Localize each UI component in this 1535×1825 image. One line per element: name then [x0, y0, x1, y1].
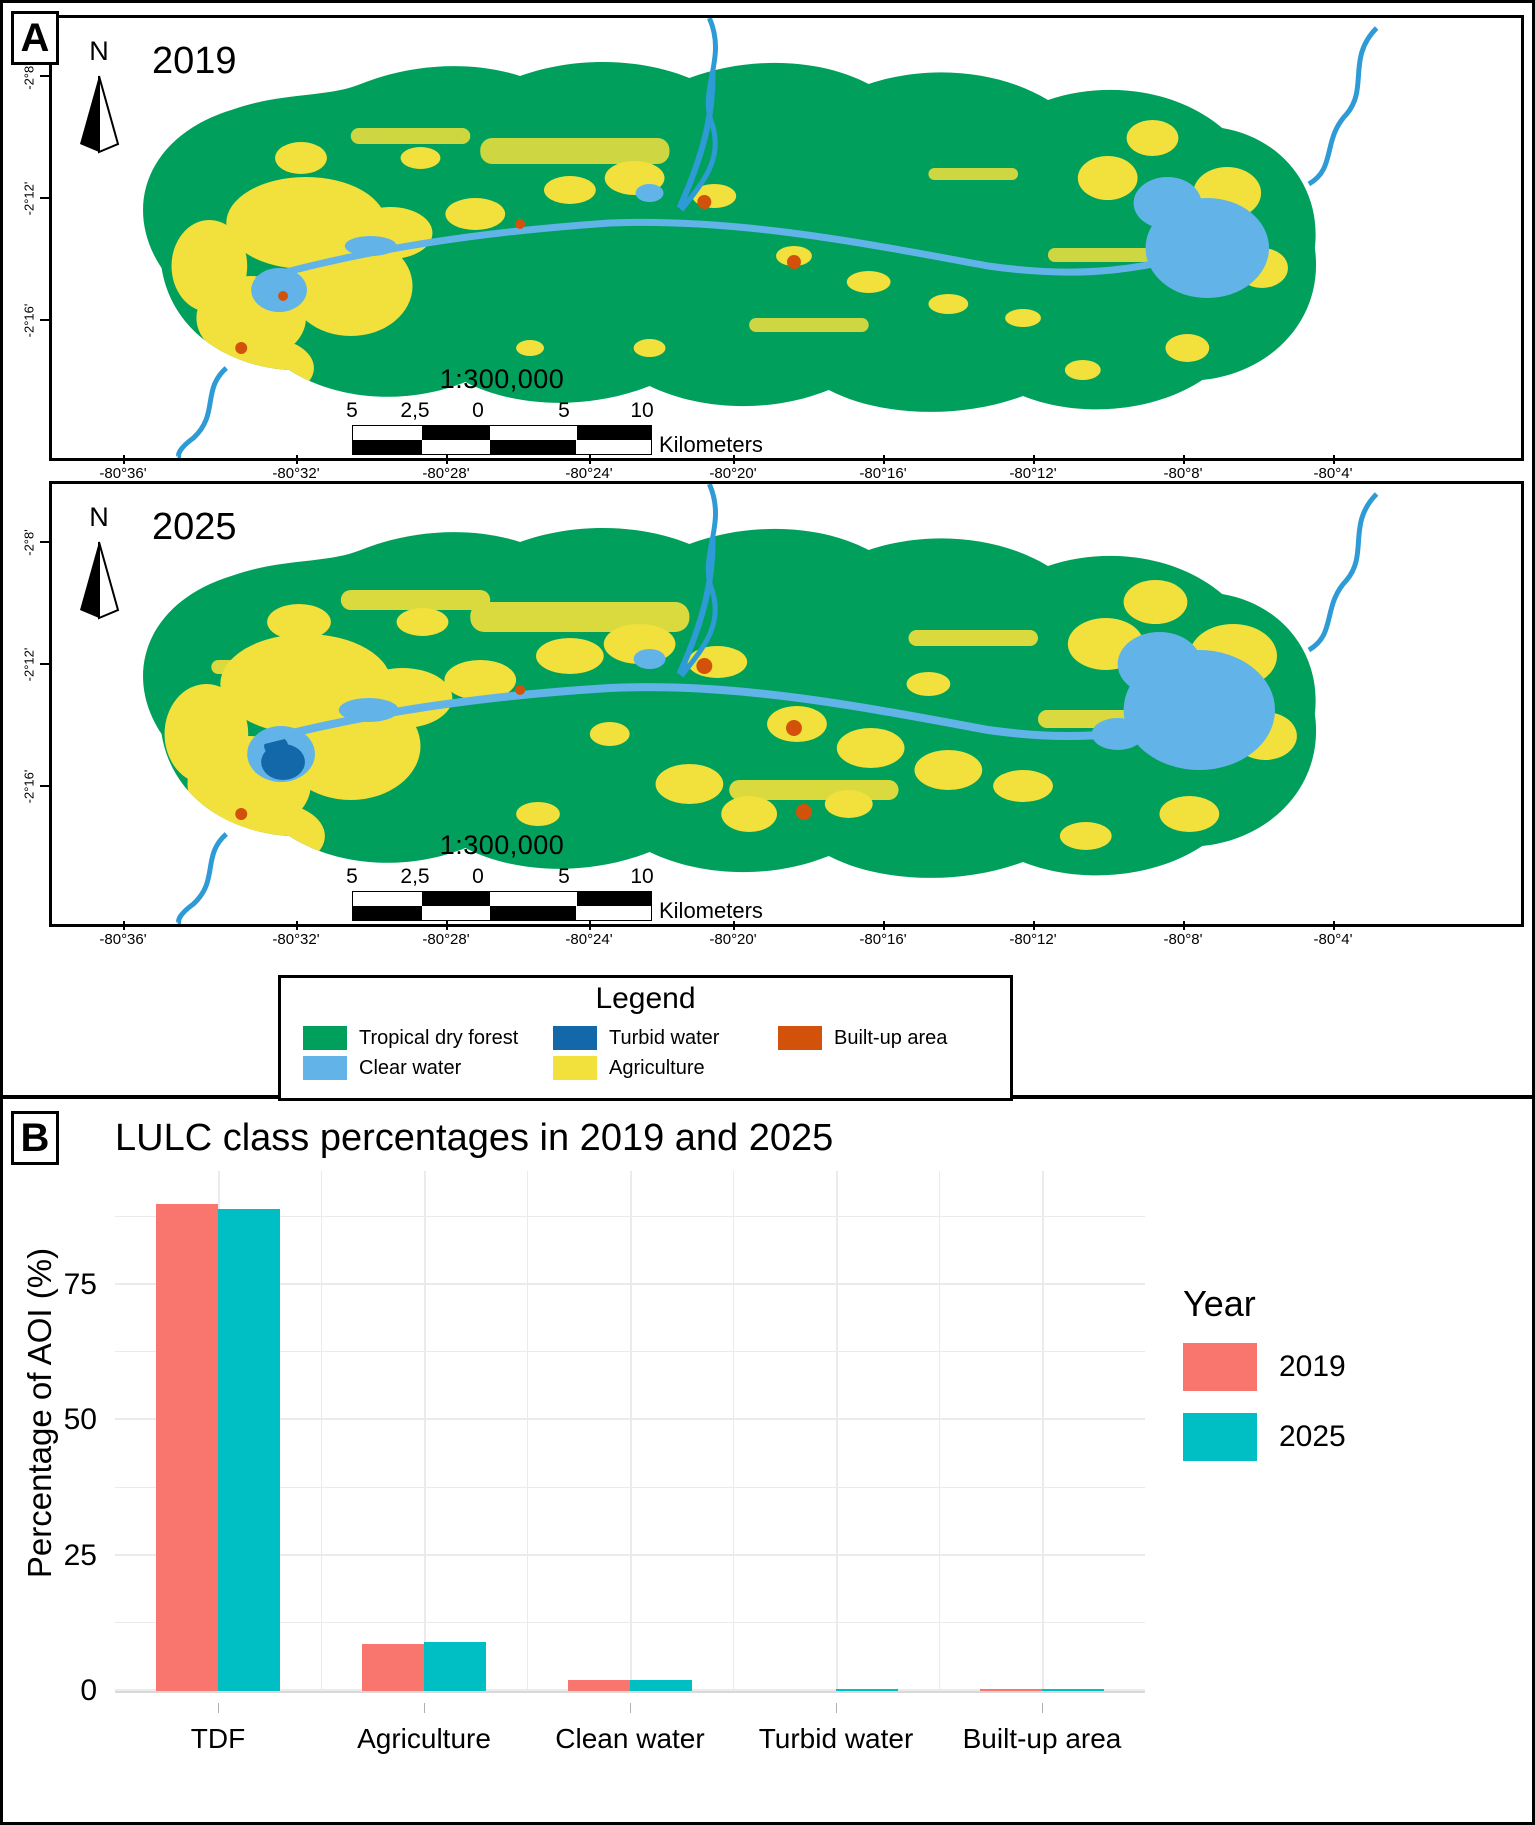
chart-legend-item-2019[interactable]: 2019	[1183, 1343, 1483, 1391]
scale-title-2019: 1:300,000	[342, 364, 662, 395]
chart-x-tickmark-0	[218, 1703, 219, 1713]
legend-item-built-up-area: Built-up area	[778, 1026, 947, 1050]
chart-x-label-tdf: TDF	[191, 1723, 245, 1755]
legend-label-built-up-area: Built-up area	[834, 1027, 947, 1050]
lon-label-2019-2: -80°28'	[422, 465, 469, 482]
lon-label-2025-5: -80°16'	[859, 931, 906, 948]
scale-num-2025-0: 5	[346, 865, 358, 889]
scale-units-2019: Kilometers	[659, 432, 763, 458]
legend-item-clear-water: Clear water	[303, 1056, 553, 1080]
chart-x-tickmark-2	[630, 1703, 631, 1713]
lon-label-2019-7: -80°8'	[1164, 465, 1203, 482]
legend-label-tropical-dry-forest: Tropical dry forest	[359, 1027, 518, 1050]
legend-label-agriculture: Agriculture	[609, 1057, 705, 1080]
chart-x-tickmark-1	[424, 1703, 425, 1713]
lon-label-2019-3: -80°24'	[565, 465, 612, 482]
chart-gridline-x-minor	[527, 1171, 528, 1691]
lon-label-2025-4: -80°20'	[709, 931, 756, 948]
legend-label-turbid-water: Turbid water	[609, 1027, 719, 1050]
map-legend-title: Legend	[281, 982, 1010, 1016]
lon-label-2019-8: -80°4'	[1314, 465, 1353, 482]
chart-x-tickmark-3	[836, 1703, 837, 1713]
chart-legend-item-2025[interactable]: 2025	[1183, 1413, 1483, 1461]
lat-label-2025-2: -2°16'	[22, 757, 37, 817]
chart-legend-swatch-2019	[1183, 1343, 1257, 1391]
map-hydrology-2019	[52, 18, 1521, 458]
map-year-label-2025: 2025	[152, 506, 237, 549]
lat-tick-2019-2	[40, 319, 49, 321]
chart-gridline-x-1	[424, 1171, 426, 1691]
chart-title: LULC class percentages in 2019 and 2025	[115, 1117, 833, 1160]
chart-x-label-clean-water: Clean water	[555, 1723, 704, 1755]
chart-bar-clean-water-2019[interactable]	[568, 1680, 630, 1691]
map-2025: -2°8' -2°12' -2°16'	[3, 481, 1532, 947]
legend-label-clear-water: Clear water	[359, 1057, 461, 1080]
legend-swatch-tropical-dry-forest	[303, 1026, 347, 1050]
chart-gridline-x-minor	[321, 1171, 322, 1691]
map-frame-2025: N 2025 1:300,000 5 2,5 0 5 10	[49, 481, 1524, 927]
chart-gridline-x-3	[836, 1171, 838, 1691]
chart-y-axis-label-text: Percentage of AOI (%)	[21, 1248, 59, 1578]
north-arrow-icon-2019	[76, 74, 122, 154]
lat-tick-2025-1	[40, 663, 49, 665]
chart-legend-label-2019: 2019	[1279, 1350, 1346, 1384]
chart-bar-tdf-2025[interactable]	[218, 1209, 280, 1691]
legend-swatch-built-up-area	[778, 1026, 822, 1050]
scale-num-2025-1: 2,5	[400, 865, 429, 889]
chart-bar-agriculture-2019[interactable]	[362, 1644, 424, 1691]
map-year-label-2019: 2019	[152, 40, 237, 83]
chart-gridline-x-minor	[733, 1171, 734, 1691]
scale-bar-graphic-2025: Kilometers	[352, 891, 652, 921]
legend-swatch-turbid-water	[553, 1026, 597, 1050]
chart-bar-clean-water-2025[interactable]	[630, 1680, 692, 1691]
lon-label-2025-2: -80°28'	[422, 931, 469, 948]
lon-label-2025-0: -80°36'	[99, 931, 146, 948]
scale-numbers-2019: 5 2,5 0 5 10	[342, 399, 662, 421]
chart-x-label-agriculture: Agriculture	[357, 1723, 491, 1755]
lon-label-2019-0: -80°36'	[99, 465, 146, 482]
chart-gridline-x-minor	[939, 1171, 940, 1691]
north-label-2025: N	[89, 502, 109, 533]
chart-gridline-x-4	[1042, 1171, 1044, 1691]
lat-label-2019-1: -2°12'	[22, 169, 37, 229]
chart-x-axis-line	[115, 1691, 1145, 1693]
panel-b-chart: B LULC class percentages in 2019 and 202…	[3, 1103, 1532, 1822]
legend-swatch-agriculture	[553, 1056, 597, 1080]
lon-label-2025-3: -80°24'	[565, 931, 612, 948]
chart-legend: Year 2019 2025	[1183, 1283, 1483, 1483]
map-legend-row-2: Clear water Agriculture	[303, 1056, 988, 1080]
scale-num-2019-1: 2,5	[400, 399, 429, 423]
chart-bar-agriculture-2025[interactable]	[424, 1642, 486, 1691]
legend-item-tropical-dry-forest: Tropical dry forest	[303, 1026, 553, 1050]
map-legend: Legend Tropical dry forest Turbid water …	[278, 975, 1013, 1101]
lat-tick-2019-1	[40, 197, 49, 199]
north-arrow-2019: N	[76, 40, 122, 150]
legend-swatch-clear-water	[303, 1056, 347, 1080]
panel-label-a: A	[11, 11, 59, 65]
chart-y-ticks: 0255075	[57, 1171, 105, 1691]
scale-bar-2025: 1:300,000 5 2,5 0 5 10	[342, 830, 662, 921]
scale-bar-graphic-2019: Kilometers	[352, 425, 652, 455]
lat-tick-2019-0	[40, 75, 49, 77]
chart-legend-label-2025: 2025	[1279, 1420, 1346, 1454]
lon-label-2019-5: -80°16'	[859, 465, 906, 482]
chart-y-tick-25: 25	[64, 1539, 97, 1573]
lat-tick-2025-2	[40, 785, 49, 787]
lat-label-2019-2: -2°16'	[22, 291, 37, 351]
lon-label-2019-1: -80°32'	[272, 465, 319, 482]
north-arrow-2025: N	[76, 506, 122, 616]
scale-numbers-2025: 5 2,5 0 5 10	[342, 865, 662, 887]
chart-legend-title: Year	[1183, 1283, 1483, 1325]
chart-gridline-x-2	[630, 1171, 632, 1691]
chart-legend-swatch-2025	[1183, 1413, 1257, 1461]
map-legend-rows: Tropical dry forest Turbid water Built-u…	[281, 1026, 1010, 1080]
panel-a-maps: A -2°8' -2°12' -2°16'	[3, 3, 1532, 1099]
map-hydrology-2025	[52, 484, 1521, 924]
chart-y-tick-75: 75	[64, 1268, 97, 1302]
chart-y-tick-0: 0	[80, 1674, 97, 1708]
chart-x-tickmark-4	[1042, 1703, 1043, 1713]
lon-label-2019-4: -80°20'	[709, 465, 756, 482]
legend-item-turbid-water: Turbid water	[553, 1026, 778, 1050]
panel-label-b: B	[11, 1111, 59, 1165]
lon-label-2025-7: -80°8'	[1164, 931, 1203, 948]
scale-bar-2019: 1:300,000 5 2,5 0 5 10	[342, 364, 662, 455]
lon-label-2019-6: -80°12'	[1009, 465, 1056, 482]
scale-num-2025-2: 0	[472, 865, 484, 889]
chart-x-ticks: TDFAgricultureClean waterTurbid waterBui…	[115, 1703, 1145, 1753]
chart-y-tick-50: 50	[64, 1403, 97, 1437]
lat-label-2025-0: -2°8'	[22, 513, 37, 573]
lat-tick-2025-0	[40, 541, 49, 543]
lon-label-2025-6: -80°12'	[1009, 931, 1056, 948]
north-arrow-icon-2025	[76, 540, 122, 620]
scale-num-2019-0: 5	[346, 399, 358, 423]
scale-num-2025-3: 5	[558, 865, 570, 889]
lat-label-2025-1: -2°12'	[22, 635, 37, 695]
chart-plot-area	[115, 1171, 1145, 1691]
figure-root: A -2°8' -2°12' -2°16'	[0, 0, 1535, 1825]
lon-label-2025-8: -80°4'	[1314, 931, 1353, 948]
lon-label-2025-1: -80°32'	[272, 931, 319, 948]
map-2019: -2°8' -2°12' -2°16'	[3, 15, 1532, 481]
scale-num-2019-3: 5	[558, 399, 570, 423]
map-legend-row-1: Tropical dry forest Turbid water Built-u…	[303, 1026, 988, 1050]
chart-x-label-built-up-area: Built-up area	[963, 1723, 1122, 1755]
chart-x-label-turbid-water: Turbid water	[759, 1723, 914, 1755]
scale-num-2025-4: 10	[630, 865, 653, 889]
chart-bar-tdf-2019[interactable]	[156, 1204, 218, 1692]
scale-title-2025: 1:300,000	[342, 830, 662, 861]
scale-num-2019-2: 0	[472, 399, 484, 423]
legend-item-agriculture: Agriculture	[553, 1056, 778, 1080]
scale-num-2019-4: 10	[630, 399, 653, 423]
north-label-2019: N	[89, 36, 109, 67]
scale-units-2025: Kilometers	[659, 898, 763, 924]
map-frame-2019: N 2019 1:300,000 5 2,5 0 5 10	[49, 15, 1524, 461]
